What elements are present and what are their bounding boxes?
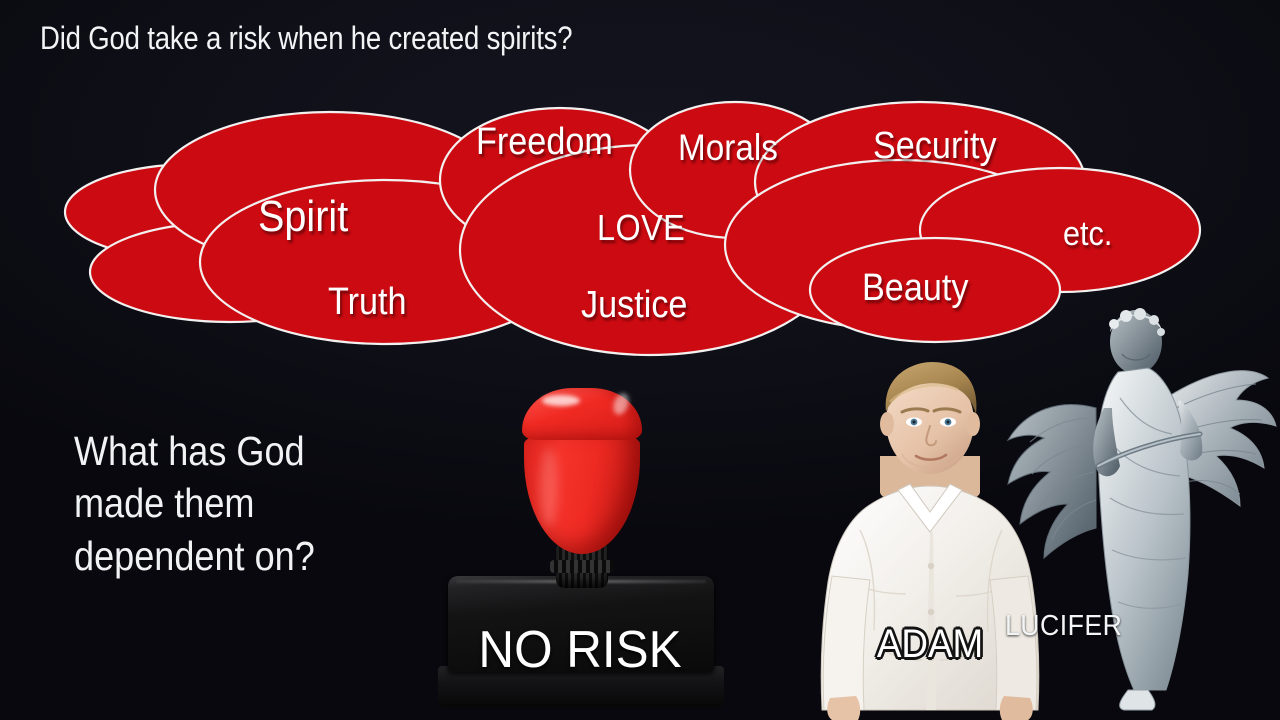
angel-head bbox=[1109, 308, 1165, 374]
adam-figure: ADAM bbox=[790, 350, 1070, 720]
button-cap[interactable] bbox=[522, 388, 642, 440]
button-label: NO RISK bbox=[438, 620, 723, 680]
question-text: What has God made them dependent on? bbox=[74, 425, 315, 582]
lucifer-label: LUCIFER bbox=[1005, 610, 1122, 643]
angel-body bbox=[1093, 368, 1202, 710]
slide-canvas: Did God take a risk when he created spir… bbox=[0, 0, 1280, 720]
button-body bbox=[524, 436, 640, 554]
no-risk-button[interactable]: NO RISK bbox=[430, 388, 730, 718]
